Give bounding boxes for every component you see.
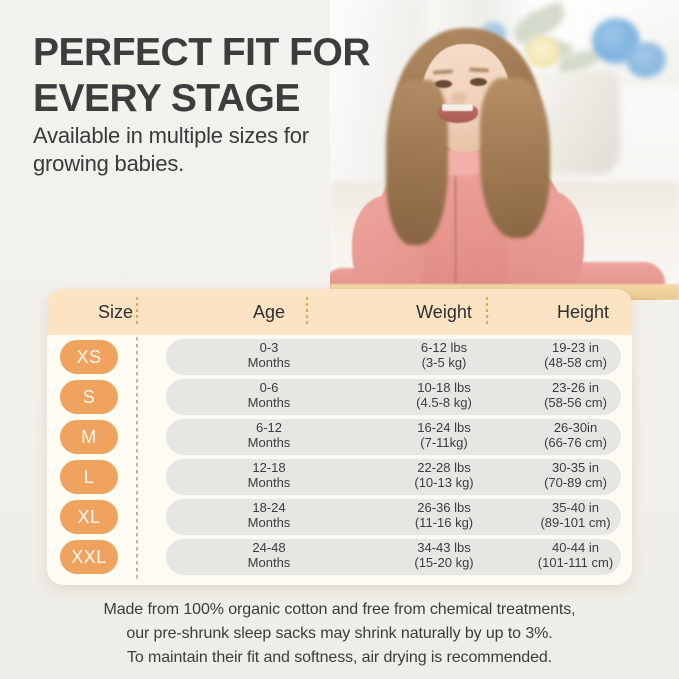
table-row: S 0-6 Months 10-18 lbs (4.5-8 kg) 23-26 … bbox=[47, 377, 632, 417]
size-chart-header-row: Size Age Weight Height bbox=[47, 289, 632, 335]
column-separator bbox=[306, 297, 308, 327]
cell-weight: 22-28 lbs (10-13 kg) bbox=[354, 460, 534, 490]
cell-age: 12-18 Months bbox=[184, 460, 354, 490]
cell-age-line2: Months bbox=[184, 355, 354, 370]
cell-age-line1: 0-6 bbox=[260, 380, 279, 395]
cell-weight-line1: 10-18 lbs bbox=[417, 380, 470, 395]
cell-age: 24-48 Months bbox=[184, 540, 354, 570]
cell-weight-line1: 6-12 lbs bbox=[421, 340, 467, 355]
cell-age-line1: 18-24 bbox=[252, 500, 285, 515]
size-badge: XS bbox=[60, 340, 118, 374]
cell-weight: 34-43 lbs (15-20 kg) bbox=[354, 540, 534, 570]
child-hair-side-right bbox=[480, 78, 550, 238]
care-disclaimer: Made from 100% organic cotton and free f… bbox=[0, 598, 679, 670]
child-teeth bbox=[442, 104, 473, 111]
product-size-chart-poster: PERFECT FIT FOR EVERY STAGE Available in… bbox=[0, 0, 679, 679]
care-disclaimer-line1: Made from 100% organic cotton and free f… bbox=[0, 598, 679, 622]
child-nose bbox=[451, 92, 467, 103]
table-row: XXL 24-48 Months 34-43 lbs (15-20 kg) 40… bbox=[47, 537, 632, 577]
cell-height: 40-44 in (101-111 cm) bbox=[519, 540, 632, 570]
size-chart-card: Size Age Weight Height XS 0-3 Months 6-1… bbox=[47, 289, 632, 585]
column-separator bbox=[136, 297, 138, 327]
table-row: XL 18-24 Months 26-36 lbs (11-16 kg) 35-… bbox=[47, 497, 632, 537]
cell-age: 0-6 Months bbox=[184, 380, 354, 410]
column-header-age: Age bbox=[184, 289, 354, 335]
cell-weight-line2: (11-16 kg) bbox=[354, 515, 534, 530]
cell-weight: 10-18 lbs (4.5-8 kg) bbox=[354, 380, 534, 410]
cell-age: 0-3 Months bbox=[184, 340, 354, 370]
cell-weight-line1: 22-28 lbs bbox=[417, 460, 470, 475]
size-chart-body: XS 0-3 Months 6-12 lbs (3-5 kg) 19-23 in… bbox=[47, 335, 632, 585]
cell-height-line1: 30-35 in bbox=[552, 460, 599, 475]
page-title: PERFECT FIT FOR EVERY STAGE bbox=[33, 30, 413, 122]
cell-weight-line1: 16-24 lbs bbox=[417, 420, 470, 435]
column-separator bbox=[486, 297, 488, 327]
page-subtitle: Available in multiple sizes for growing … bbox=[33, 122, 353, 178]
cell-height-line2: (101-111 cm) bbox=[519, 555, 632, 570]
cell-age-line2: Months bbox=[184, 515, 354, 530]
cell-height-line2: (70-89 cm) bbox=[519, 475, 632, 490]
size-badge: XL bbox=[60, 500, 118, 534]
cell-height-line2: (48-58 cm) bbox=[519, 355, 632, 370]
cell-height-line1: 35-40 in bbox=[552, 500, 599, 515]
cell-weight-line1: 26-36 lbs bbox=[417, 500, 470, 515]
cell-height-line1: 19-23 in bbox=[552, 340, 599, 355]
child-eye-left bbox=[435, 80, 452, 88]
care-disclaimer-line3: To maintain their fit and softness, air … bbox=[0, 646, 679, 670]
photo-hydrangea bbox=[626, 42, 666, 78]
cell-height: 26-30in (66-76 cm) bbox=[519, 420, 632, 450]
cell-age-line2: Months bbox=[184, 555, 354, 570]
child-sleep-sack-zipper bbox=[454, 168, 457, 296]
cell-age: 6-12 Months bbox=[184, 420, 354, 450]
cell-height: 19-23 in (48-58 cm) bbox=[519, 340, 632, 370]
column-header-height: Height bbox=[534, 289, 632, 335]
size-badge: XXL bbox=[60, 540, 118, 574]
photo-cream-flower bbox=[526, 36, 560, 68]
table-row: L 12-18 Months 22-28 lbs (10-13 kg) 30-3… bbox=[47, 457, 632, 497]
cell-weight-line2: (7-11kg) bbox=[354, 435, 534, 450]
cell-weight: 6-12 lbs (3-5 kg) bbox=[354, 340, 534, 370]
table-row: M 6-12 Months 16-24 lbs (7-11kg) 26-30in… bbox=[47, 417, 632, 457]
table-row: XS 0-3 Months 6-12 lbs (3-5 kg) 19-23 in… bbox=[47, 337, 632, 377]
cell-age-line1: 0-3 bbox=[260, 340, 279, 355]
cell-height: 35-40 in (89-101 cm) bbox=[519, 500, 632, 530]
care-disclaimer-line2: our pre-shrunk sleep sacks may shrink na… bbox=[0, 622, 679, 646]
cell-age-line1: 12-18 bbox=[252, 460, 285, 475]
cell-height-line2: (66-76 cm) bbox=[519, 435, 632, 450]
cell-height: 30-35 in (70-89 cm) bbox=[519, 460, 632, 490]
size-badge: M bbox=[60, 420, 118, 454]
cell-height: 23-26 in (58-56 cm) bbox=[519, 380, 632, 410]
column-header-size: Size bbox=[47, 289, 184, 335]
cell-weight-line1: 34-43 lbs bbox=[417, 540, 470, 555]
cell-age: 18-24 Months bbox=[184, 500, 354, 530]
cell-height-line2: (58-56 cm) bbox=[519, 395, 632, 410]
cell-age-line2: Months bbox=[184, 435, 354, 450]
column-header-weight: Weight bbox=[354, 289, 534, 335]
cell-age-line1: 6-12 bbox=[256, 420, 282, 435]
cell-height-line2: (89-101 cm) bbox=[519, 515, 632, 530]
cell-weight-line2: (4.5-8 kg) bbox=[354, 395, 534, 410]
cell-height-line1: 23-26 in bbox=[552, 380, 599, 395]
size-badge: S bbox=[60, 380, 118, 414]
child-eye-right bbox=[470, 78, 487, 86]
cell-weight: 26-36 lbs (11-16 kg) bbox=[354, 500, 534, 530]
cell-weight-line2: (3-5 kg) bbox=[354, 355, 534, 370]
cell-age-line1: 24-48 bbox=[252, 540, 285, 555]
cell-age-line2: Months bbox=[184, 475, 354, 490]
cell-height-line1: 40-44 in bbox=[552, 540, 599, 555]
cell-height-line1: 26-30in bbox=[554, 420, 597, 435]
cell-weight-line2: (15-20 kg) bbox=[354, 555, 534, 570]
cell-weight-line2: (10-13 kg) bbox=[354, 475, 534, 490]
cell-weight: 16-24 lbs (7-11kg) bbox=[354, 420, 534, 450]
size-badge: L bbox=[60, 460, 118, 494]
cell-age-line2: Months bbox=[184, 395, 354, 410]
